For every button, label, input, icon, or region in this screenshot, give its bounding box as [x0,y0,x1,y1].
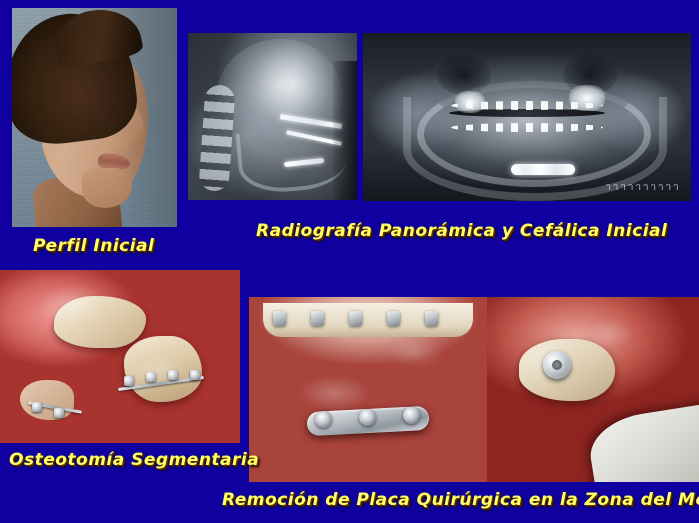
chin-fixation-plate [511,164,575,175]
presentation-slide: ᒉᒉᒉᒉᒉᒉᒉᒉᒉᒉ [0,0,699,523]
tissue-specular-highlights [0,270,240,443]
caption-osteotomia-segmentaria: Osteotomía Segmentaria [9,450,259,470]
photo-vignette [12,8,177,227]
clinical-profile-photo [12,8,177,227]
plate-removal-photo [249,297,487,482]
segmental-osteotomy-photo [0,270,240,443]
lower-bracket-row [451,123,603,132]
panoramic-radiograph: ᒉᒉᒉᒉᒉᒉᒉᒉᒉᒉ [363,33,691,201]
caption-radiografia-inicial: Radiografía Panorámica y Cefálica Inicia… [256,221,667,241]
tissue-specular-highlights [487,297,699,482]
film-edge-shadow [333,61,357,200]
lateral-cephalometric-radiograph [188,33,357,200]
radiograph-ruler-marks: ᒉᒉᒉᒉᒉᒉᒉᒉᒉᒉ [606,183,681,192]
tissue-specular-highlights [249,297,487,482]
caption-perfil-inicial: Perfil Inicial [33,236,154,256]
left-molar-restoration [455,91,485,113]
right-molar-restoration [569,85,605,111]
caption-remocion-placa: Remoción de Placa Quirúrgica en la Zona … [222,490,699,510]
chin-zone-photo [487,297,699,482]
